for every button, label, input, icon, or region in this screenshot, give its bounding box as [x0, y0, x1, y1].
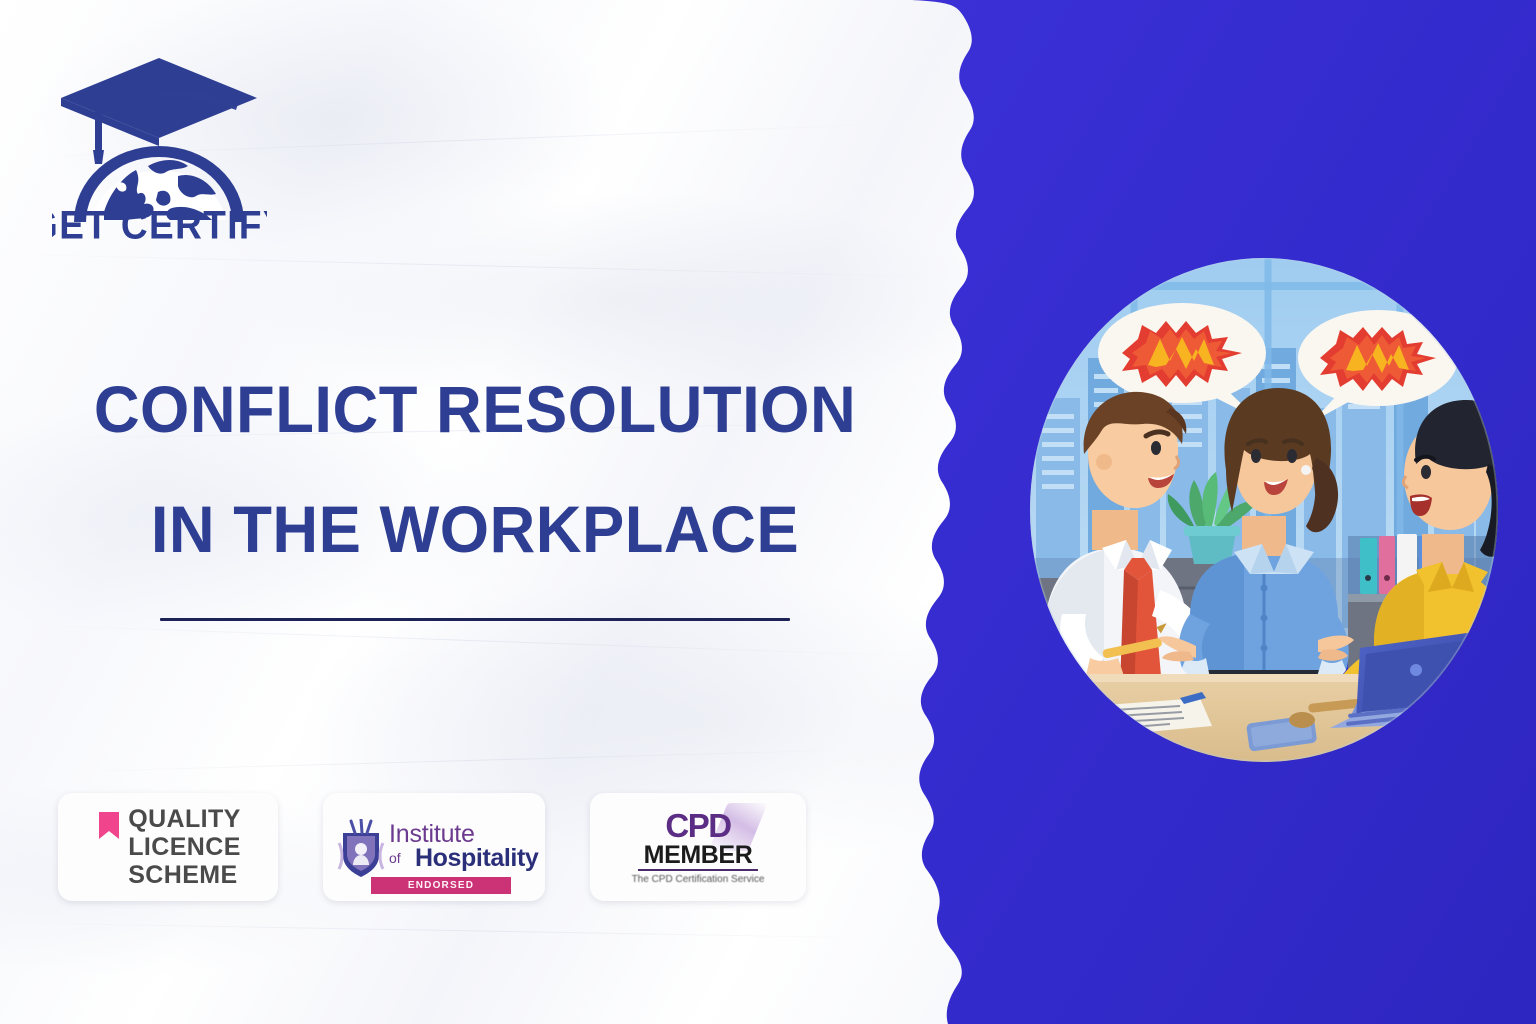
cpd-rule: [638, 869, 758, 871]
cpd-subtitle: The CPD Certification Service: [590, 873, 806, 886]
graduation-cap-icon: [61, 58, 257, 138]
ioh-endorsed-label: ENDORSED: [408, 880, 474, 891]
workplace-conflict-illustration: [1030, 258, 1498, 762]
title-divider: [160, 618, 790, 621]
qls-line-2: LICENCE: [128, 833, 241, 861]
qls-line-3: SCHEME: [128, 861, 241, 889]
badge-institute-of-hospitality[interactable]: Institute of Hospitality ENDORSED: [323, 793, 545, 901]
crest-shield-icon: [337, 819, 385, 877]
ioh-word-of: of: [389, 850, 401, 866]
accreditation-badges: QUALITY LICENCE SCHEME Institute of: [58, 793, 806, 901]
ioh-endorsed-banner: ENDORSED: [371, 877, 511, 894]
badge-quality-licence-scheme[interactable]: QUALITY LICENCE SCHEME: [58, 793, 278, 901]
title-line-1: CONFLICT RESOLUTION: [19, 372, 931, 446]
banner-canvas: GET CERTIFY CONFLICT RESOLUTION IN THE W…: [0, 0, 1536, 1024]
bookmark-icon: [99, 812, 119, 839]
logo-wordmark: GET CERTIFY: [52, 203, 267, 242]
badge-cpd-member[interactable]: CPD MEMBER The CPD Certification Service: [590, 793, 806, 901]
ioh-word-hospitality: Hospitality: [415, 844, 538, 873]
get-certify-logo[interactable]: GET CERTIFY: [52, 42, 267, 242]
page-title: CONFLICT RESOLUTION IN THE WORKPLACE: [0, 372, 950, 566]
cpd-member-label: MEMBER: [590, 841, 806, 870]
qls-line-1: QUALITY: [128, 805, 241, 833]
cpd-title: CPD: [590, 807, 806, 845]
title-line-2: IN THE WORKPLACE: [19, 492, 931, 566]
